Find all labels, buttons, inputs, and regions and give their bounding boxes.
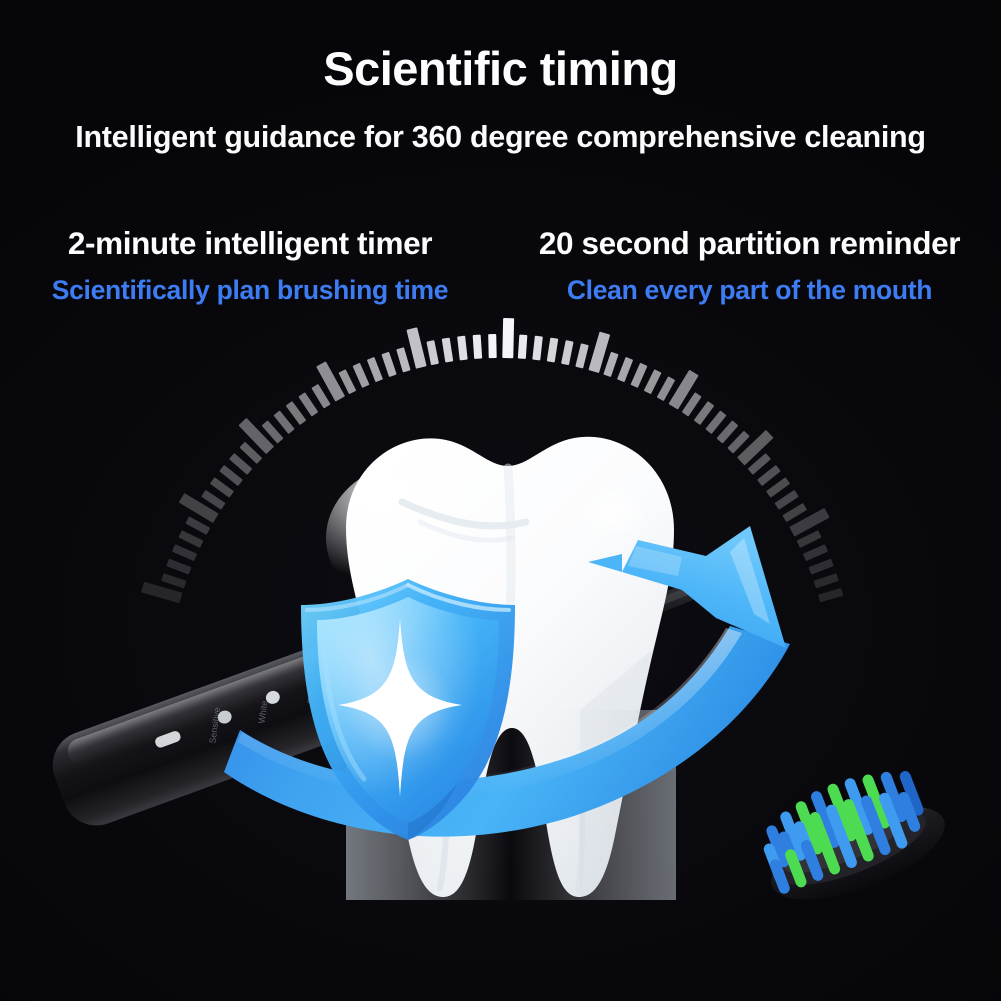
text-block: Scientific timing Intelligent guidance f… — [0, 0, 1001, 155]
feature-row: 2-minute intelligent timer Scientificall… — [0, 228, 1001, 303]
feature-subtitle: Clean every part of the mouth — [498, 277, 1001, 304]
feature-item-partition: 20 second partition reminder Clean every… — [492, 228, 1001, 303]
feature-title: 2-minute intelligent timer — [8, 228, 492, 260]
feature-item-timer: 2-minute intelligent timer Scientificall… — [0, 228, 492, 303]
feature-subtitle: Scientifically plan brushing time — [8, 277, 492, 304]
page-subtitle: Intelligent guidance for 360 degree comp… — [0, 93, 1001, 155]
protection-shield — [296, 575, 521, 843]
promo-image-canvas: Sensitive White Polish — [0, 0, 1001, 1001]
svg-text:Sensitive: Sensitive — [207, 707, 222, 745]
feature-title: 20 second partition reminder — [498, 228, 1001, 260]
page-title: Scientific timing — [0, 0, 1001, 93]
